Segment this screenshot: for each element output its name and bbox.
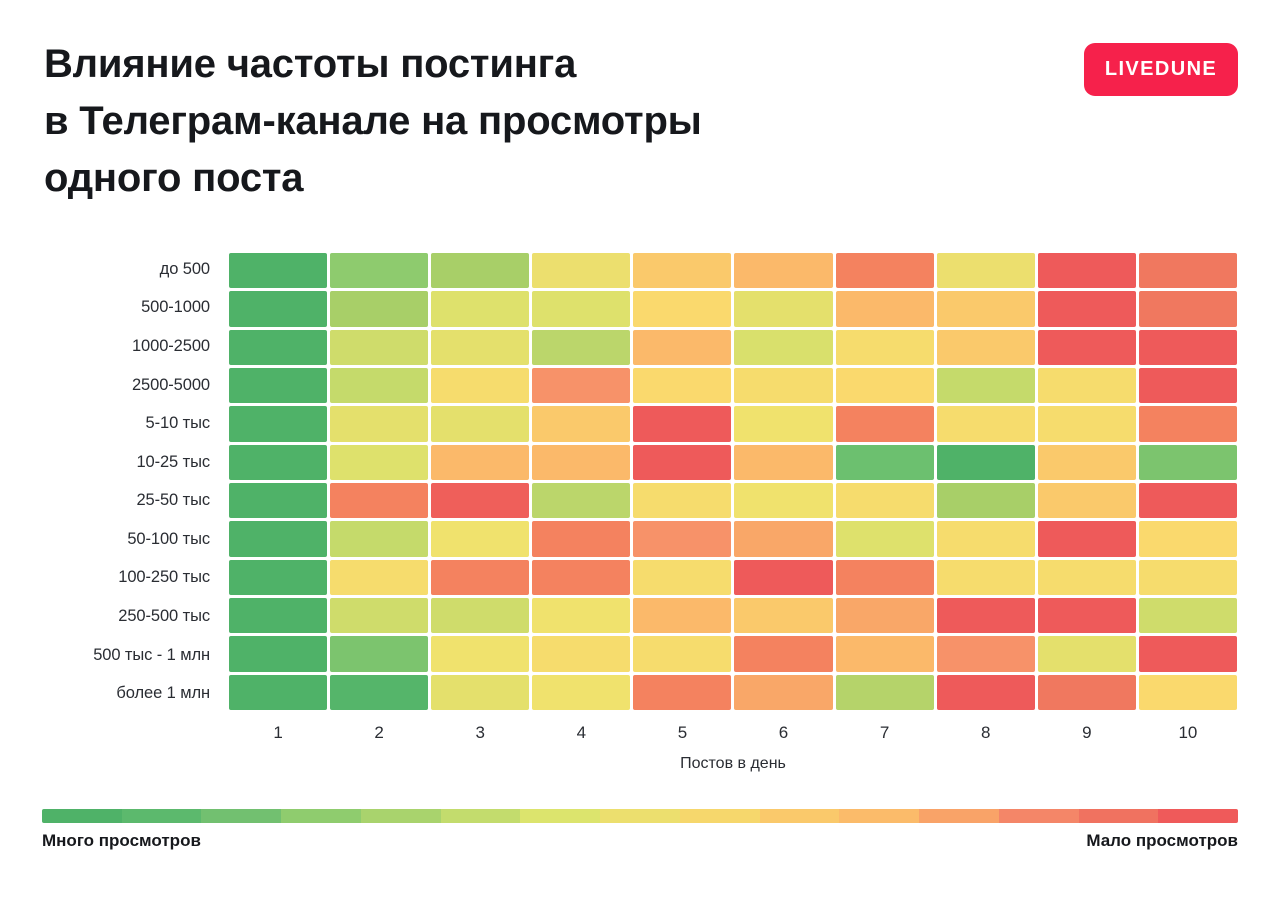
legend-label-many-views: Много просмотров [42, 831, 201, 851]
heatmap-cell[interactable] [229, 445, 327, 480]
heatmap-cell[interactable] [836, 368, 934, 403]
heatmap-cell[interactable] [1139, 483, 1237, 518]
x-axis-title: Постов в день [229, 755, 1237, 773]
heatmap-cell[interactable] [1139, 330, 1237, 365]
heatmap-cell[interactable] [937, 291, 1035, 326]
y-axis-label: 10-25 тыс [0, 443, 222, 482]
heatmap-cell[interactable] [1139, 406, 1237, 441]
heatmap-cell[interactable] [1139, 598, 1237, 633]
heatmap-cell[interactable] [937, 521, 1035, 556]
heatmap-cell[interactable] [431, 521, 529, 556]
heatmap-cell[interactable] [532, 368, 630, 403]
infographic-page: Влияние частоты постинга в Телеграм-кана… [0, 0, 1280, 898]
heatmap-cell[interactable] [633, 368, 731, 403]
legend-swatch [201, 809, 281, 823]
heatmap-cell[interactable] [734, 291, 832, 326]
heatmap-cell[interactable] [937, 368, 1035, 403]
y-axis-label: до 500 [0, 250, 222, 289]
heatmap-cell[interactable] [431, 253, 529, 288]
heatmap-cell[interactable] [431, 675, 529, 710]
heatmap-cell[interactable] [734, 253, 832, 288]
heatmap-cell[interactable] [734, 560, 832, 595]
heatmap-cell[interactable] [836, 445, 934, 480]
heatmap-cell[interactable] [229, 291, 327, 326]
heatmap-cell[interactable] [431, 636, 529, 671]
heatmap-cell[interactable] [734, 521, 832, 556]
heatmap-cell[interactable] [532, 330, 630, 365]
brand-label: LIVEDUNE [1105, 58, 1217, 81]
heatmap-cell[interactable] [937, 483, 1035, 518]
heatmap-cell[interactable] [734, 445, 832, 480]
y-axis-label: 1000-2500 [0, 327, 222, 366]
x-axis-tick: 9 [1038, 718, 1136, 748]
heatmap-cell[interactable] [229, 330, 327, 365]
x-axis-tick: 8 [937, 718, 1035, 748]
y-axis-labels: до 500500-10001000-25002500-50005-10 тыс… [0, 250, 222, 713]
legend-swatch [999, 809, 1079, 823]
heatmap-cell[interactable] [330, 636, 428, 671]
legend-swatch [122, 809, 202, 823]
heatmap-cell[interactable] [836, 598, 934, 633]
heatmap-cell[interactable] [937, 636, 1035, 671]
x-axis-ticks: 12345678910 [229, 718, 1237, 748]
heatmap-cell[interactable] [836, 483, 934, 518]
heatmap-cell[interactable] [330, 445, 428, 480]
legend-swatch [520, 809, 600, 823]
y-axis-label: 25-50 тыс [0, 481, 222, 520]
heatmap-cell[interactable] [330, 675, 428, 710]
heatmap-cell[interactable] [937, 330, 1035, 365]
heatmap-cell[interactable] [1038, 445, 1136, 480]
heatmap-cell[interactable] [836, 521, 934, 556]
legend-swatch [281, 809, 361, 823]
heatmap-cell[interactable] [229, 368, 327, 403]
heatmap-cell[interactable] [229, 483, 327, 518]
heatmap-cell[interactable] [937, 253, 1035, 288]
heatmap-cell[interactable] [1038, 330, 1136, 365]
heatmap-cell[interactable] [229, 521, 327, 556]
heatmap-cell[interactable] [431, 291, 529, 326]
heatmap-grid [229, 253, 1237, 710]
heatmap-cell[interactable] [431, 598, 529, 633]
heatmap-cell[interactable] [229, 636, 327, 671]
heatmap-cell[interactable] [431, 368, 529, 403]
heatmap-cell[interactable] [532, 598, 630, 633]
heatmap-cell[interactable] [330, 406, 428, 441]
legend-swatch [680, 809, 760, 823]
heatmap-cell[interactable] [734, 483, 832, 518]
heatmap-cell[interactable] [633, 253, 731, 288]
legend-gradient-bar [42, 809, 1238, 823]
heatmap-cell[interactable] [633, 675, 731, 710]
heatmap-cell[interactable] [836, 253, 934, 288]
x-axis-tick: 1 [229, 718, 327, 748]
heatmap-cell[interactable] [1139, 521, 1237, 556]
heatmap-cell[interactable] [937, 675, 1035, 710]
legend-swatch [760, 809, 840, 823]
header: Влияние частоты постинга в Телеграм-кана… [0, 0, 1280, 230]
page-title: Влияние частоты постинга в Телеграм-кана… [44, 36, 1004, 206]
legend-swatch [361, 809, 441, 823]
heatmap-cell[interactable] [633, 406, 731, 441]
heatmap-cell[interactable] [330, 483, 428, 518]
heatmap-cell[interactable] [633, 560, 731, 595]
y-axis-label: 2500-5000 [0, 366, 222, 405]
heatmap-cell[interactable] [836, 675, 934, 710]
heatmap-cell[interactable] [1038, 560, 1136, 595]
legend-swatch [1158, 809, 1238, 823]
heatmap-cell[interactable] [330, 330, 428, 365]
heatmap-chart: до 500500-10001000-25002500-50005-10 тыс… [0, 250, 1280, 725]
legend-swatch [839, 809, 919, 823]
heatmap-cell[interactable] [532, 291, 630, 326]
y-axis-label: 50-100 тыс [0, 520, 222, 559]
heatmap-cell[interactable] [1038, 291, 1136, 326]
x-axis-tick: 10 [1139, 718, 1237, 748]
heatmap-cell[interactable] [937, 445, 1035, 480]
heatmap-cell[interactable] [1038, 598, 1136, 633]
heatmap-cell[interactable] [532, 636, 630, 671]
heatmap-cell[interactable] [1038, 368, 1136, 403]
heatmap-cell[interactable] [633, 291, 731, 326]
heatmap-cell[interactable] [330, 521, 428, 556]
heatmap-cell[interactable] [431, 406, 529, 441]
heatmap-cell[interactable] [937, 406, 1035, 441]
heatmap-cell[interactable] [836, 330, 934, 365]
heatmap-cell[interactable] [532, 560, 630, 595]
heatmap-cell[interactable] [1139, 291, 1237, 326]
x-axis-tick: 3 [431, 718, 529, 748]
heatmap-cell[interactable] [633, 598, 731, 633]
livedune-logo-badge[interactable]: LIVEDUNE [1084, 43, 1238, 96]
heatmap-cell[interactable] [1139, 253, 1237, 288]
heatmap-cell[interactable] [1038, 253, 1136, 288]
y-axis-label: 5-10 тыс [0, 404, 222, 443]
heatmap-cell[interactable] [1038, 483, 1136, 518]
heatmap-cell[interactable] [734, 368, 832, 403]
x-axis-tick: 4 [532, 718, 630, 748]
heatmap-cell[interactable] [937, 598, 1035, 633]
heatmap-cell[interactable] [836, 406, 934, 441]
heatmap-cell[interactable] [633, 636, 731, 671]
heatmap-cell[interactable] [1038, 521, 1136, 556]
heatmap-cell[interactable] [330, 560, 428, 595]
heatmap-cell[interactable] [1038, 406, 1136, 441]
heatmap-cell[interactable] [532, 253, 630, 288]
heatmap-cell[interactable] [1139, 445, 1237, 480]
x-axis-tick: 6 [734, 718, 832, 748]
heatmap-cell[interactable] [532, 675, 630, 710]
heatmap-cell[interactable] [532, 445, 630, 480]
heatmap-cell[interactable] [633, 521, 731, 556]
x-axis-tick: 7 [836, 718, 934, 748]
heatmap-cell[interactable] [836, 560, 934, 595]
heatmap-cell[interactable] [431, 445, 529, 480]
y-axis-label: 500 тыс - 1 млн [0, 636, 222, 675]
heatmap-cell[interactable] [734, 330, 832, 365]
heatmap-cell[interactable] [532, 483, 630, 518]
heatmap-cell[interactable] [330, 291, 428, 326]
heatmap-cell[interactable] [229, 560, 327, 595]
y-axis-label: более 1 млн [0, 674, 222, 713]
legend-label-few-views: Мало просмотров [1086, 831, 1238, 851]
heatmap-cell[interactable] [734, 636, 832, 671]
heatmap-cell[interactable] [633, 483, 731, 518]
x-axis-tick: 5 [633, 718, 731, 748]
heatmap-cell[interactable] [1139, 368, 1237, 403]
heatmap-cell[interactable] [836, 636, 934, 671]
legend-swatch [42, 809, 122, 823]
heatmap-cell[interactable] [1139, 560, 1237, 595]
heatmap-cell[interactable] [633, 330, 731, 365]
x-axis-tick: 2 [330, 718, 428, 748]
heatmap-cell[interactable] [330, 253, 428, 288]
heatmap-cell[interactable] [229, 253, 327, 288]
heatmap-cell[interactable] [1038, 675, 1136, 710]
heatmap-cell[interactable] [836, 291, 934, 326]
y-axis-label: 250-500 тыс [0, 597, 222, 636]
heatmap-cell[interactable] [229, 406, 327, 441]
heatmap-cell[interactable] [229, 598, 327, 633]
heatmap-cell[interactable] [937, 560, 1035, 595]
legend-swatch [1079, 809, 1159, 823]
heatmap-cell[interactable] [532, 406, 630, 441]
heatmap-cell[interactable] [229, 675, 327, 710]
heatmap-cell[interactable] [330, 598, 428, 633]
heatmap-cell[interactable] [431, 483, 529, 518]
heatmap-cell[interactable] [532, 521, 630, 556]
y-axis-label: 100-250 тыс [0, 559, 222, 598]
heatmap-cell[interactable] [1038, 636, 1136, 671]
y-axis-label: 500-1000 [0, 289, 222, 328]
legend-swatch [919, 809, 999, 823]
heatmap-cell[interactable] [633, 445, 731, 480]
heatmap-cell[interactable] [431, 560, 529, 595]
heatmap-cell[interactable] [1139, 636, 1237, 671]
heatmap-cell[interactable] [330, 368, 428, 403]
color-legend: Много просмотров Мало просмотров [0, 805, 1280, 875]
heatmap-cell[interactable] [734, 675, 832, 710]
heatmap-cell[interactable] [734, 598, 832, 633]
heatmap-cell[interactable] [1139, 675, 1237, 710]
heatmap-cell[interactable] [734, 406, 832, 441]
legend-swatch [441, 809, 521, 823]
heatmap-cell[interactable] [431, 330, 529, 365]
legend-swatch [600, 809, 680, 823]
